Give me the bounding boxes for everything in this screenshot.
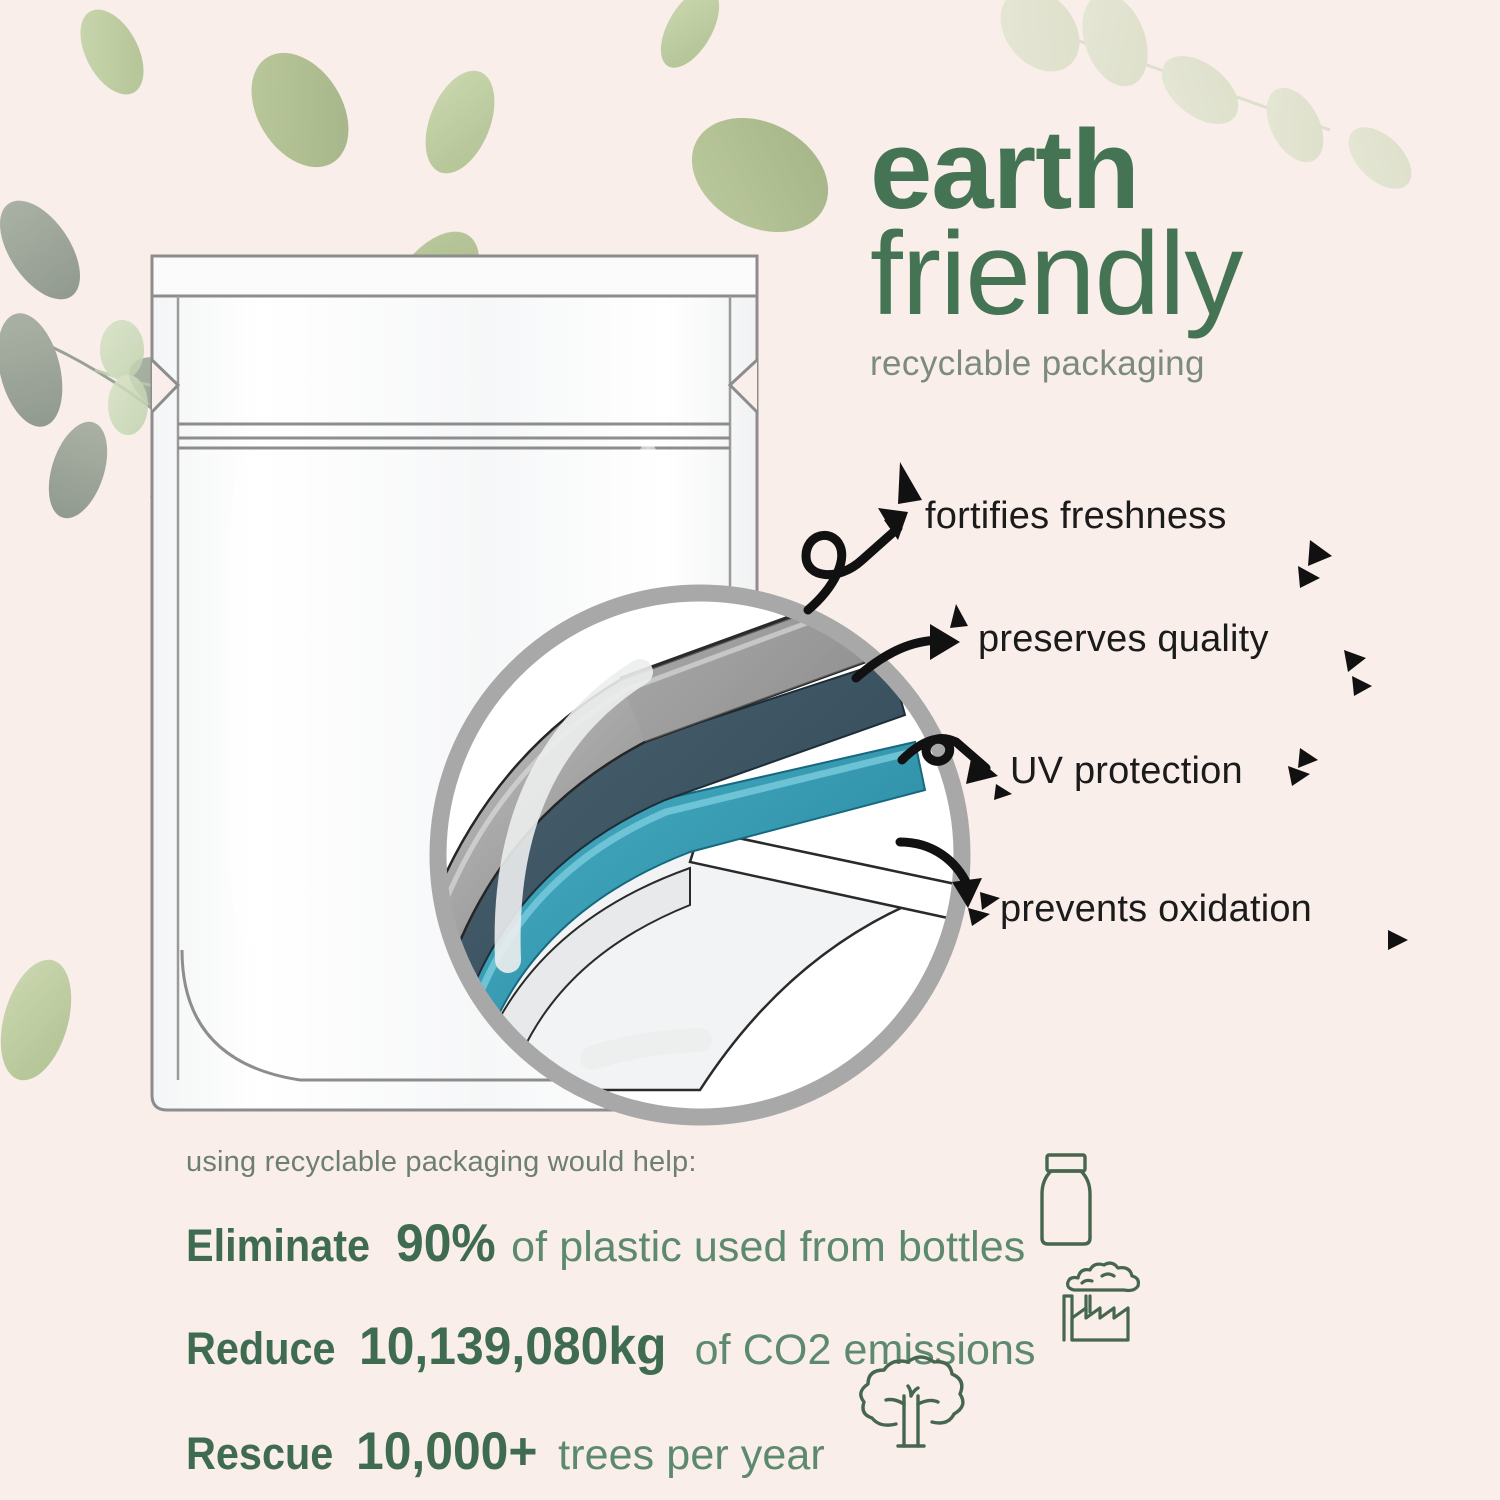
tree-icon: [852, 1352, 970, 1468]
factory-icon: [1056, 1256, 1148, 1348]
stat-tail: trees per year: [558, 1431, 825, 1480]
stat-tail: of plastic used from bottles: [511, 1223, 1025, 1272]
stat-value: 10,139,080kg: [359, 1316, 666, 1377]
stats-lead-text: using recyclable packaging would help:: [186, 1146, 1086, 1179]
stat-value: 90%: [396, 1213, 496, 1274]
feature-label-uv-protection: UV protection: [1010, 750, 1243, 793]
headline-subtitle: recyclable packaging: [870, 344, 1470, 384]
headline-block: earth friendly recyclable packaging: [870, 118, 1470, 384]
feature-label-fortifies-freshness: fortifies freshness: [925, 495, 1227, 538]
stat-verb: Rescue: [186, 1428, 333, 1480]
bottle-icon: [1030, 1150, 1102, 1250]
stat-verb: Reduce: [186, 1323, 336, 1375]
stat-value: 10,000+: [356, 1421, 537, 1482]
headline-line-1: earth: [870, 118, 1470, 222]
headline-line-2: friendly: [870, 218, 1470, 330]
infographic-canvas: earth friendly recyclable packaging fort…: [0, 0, 1500, 1500]
stat-verb: Eliminate: [186, 1220, 370, 1272]
feature-label-preserves-quality: preserves quality: [978, 618, 1269, 661]
stat-row-eliminate: Eliminate 90% of plastic used from bottl…: [186, 1213, 1086, 1274]
feature-label-prevents-oxidation: prevents oxidation: [1000, 888, 1312, 931]
